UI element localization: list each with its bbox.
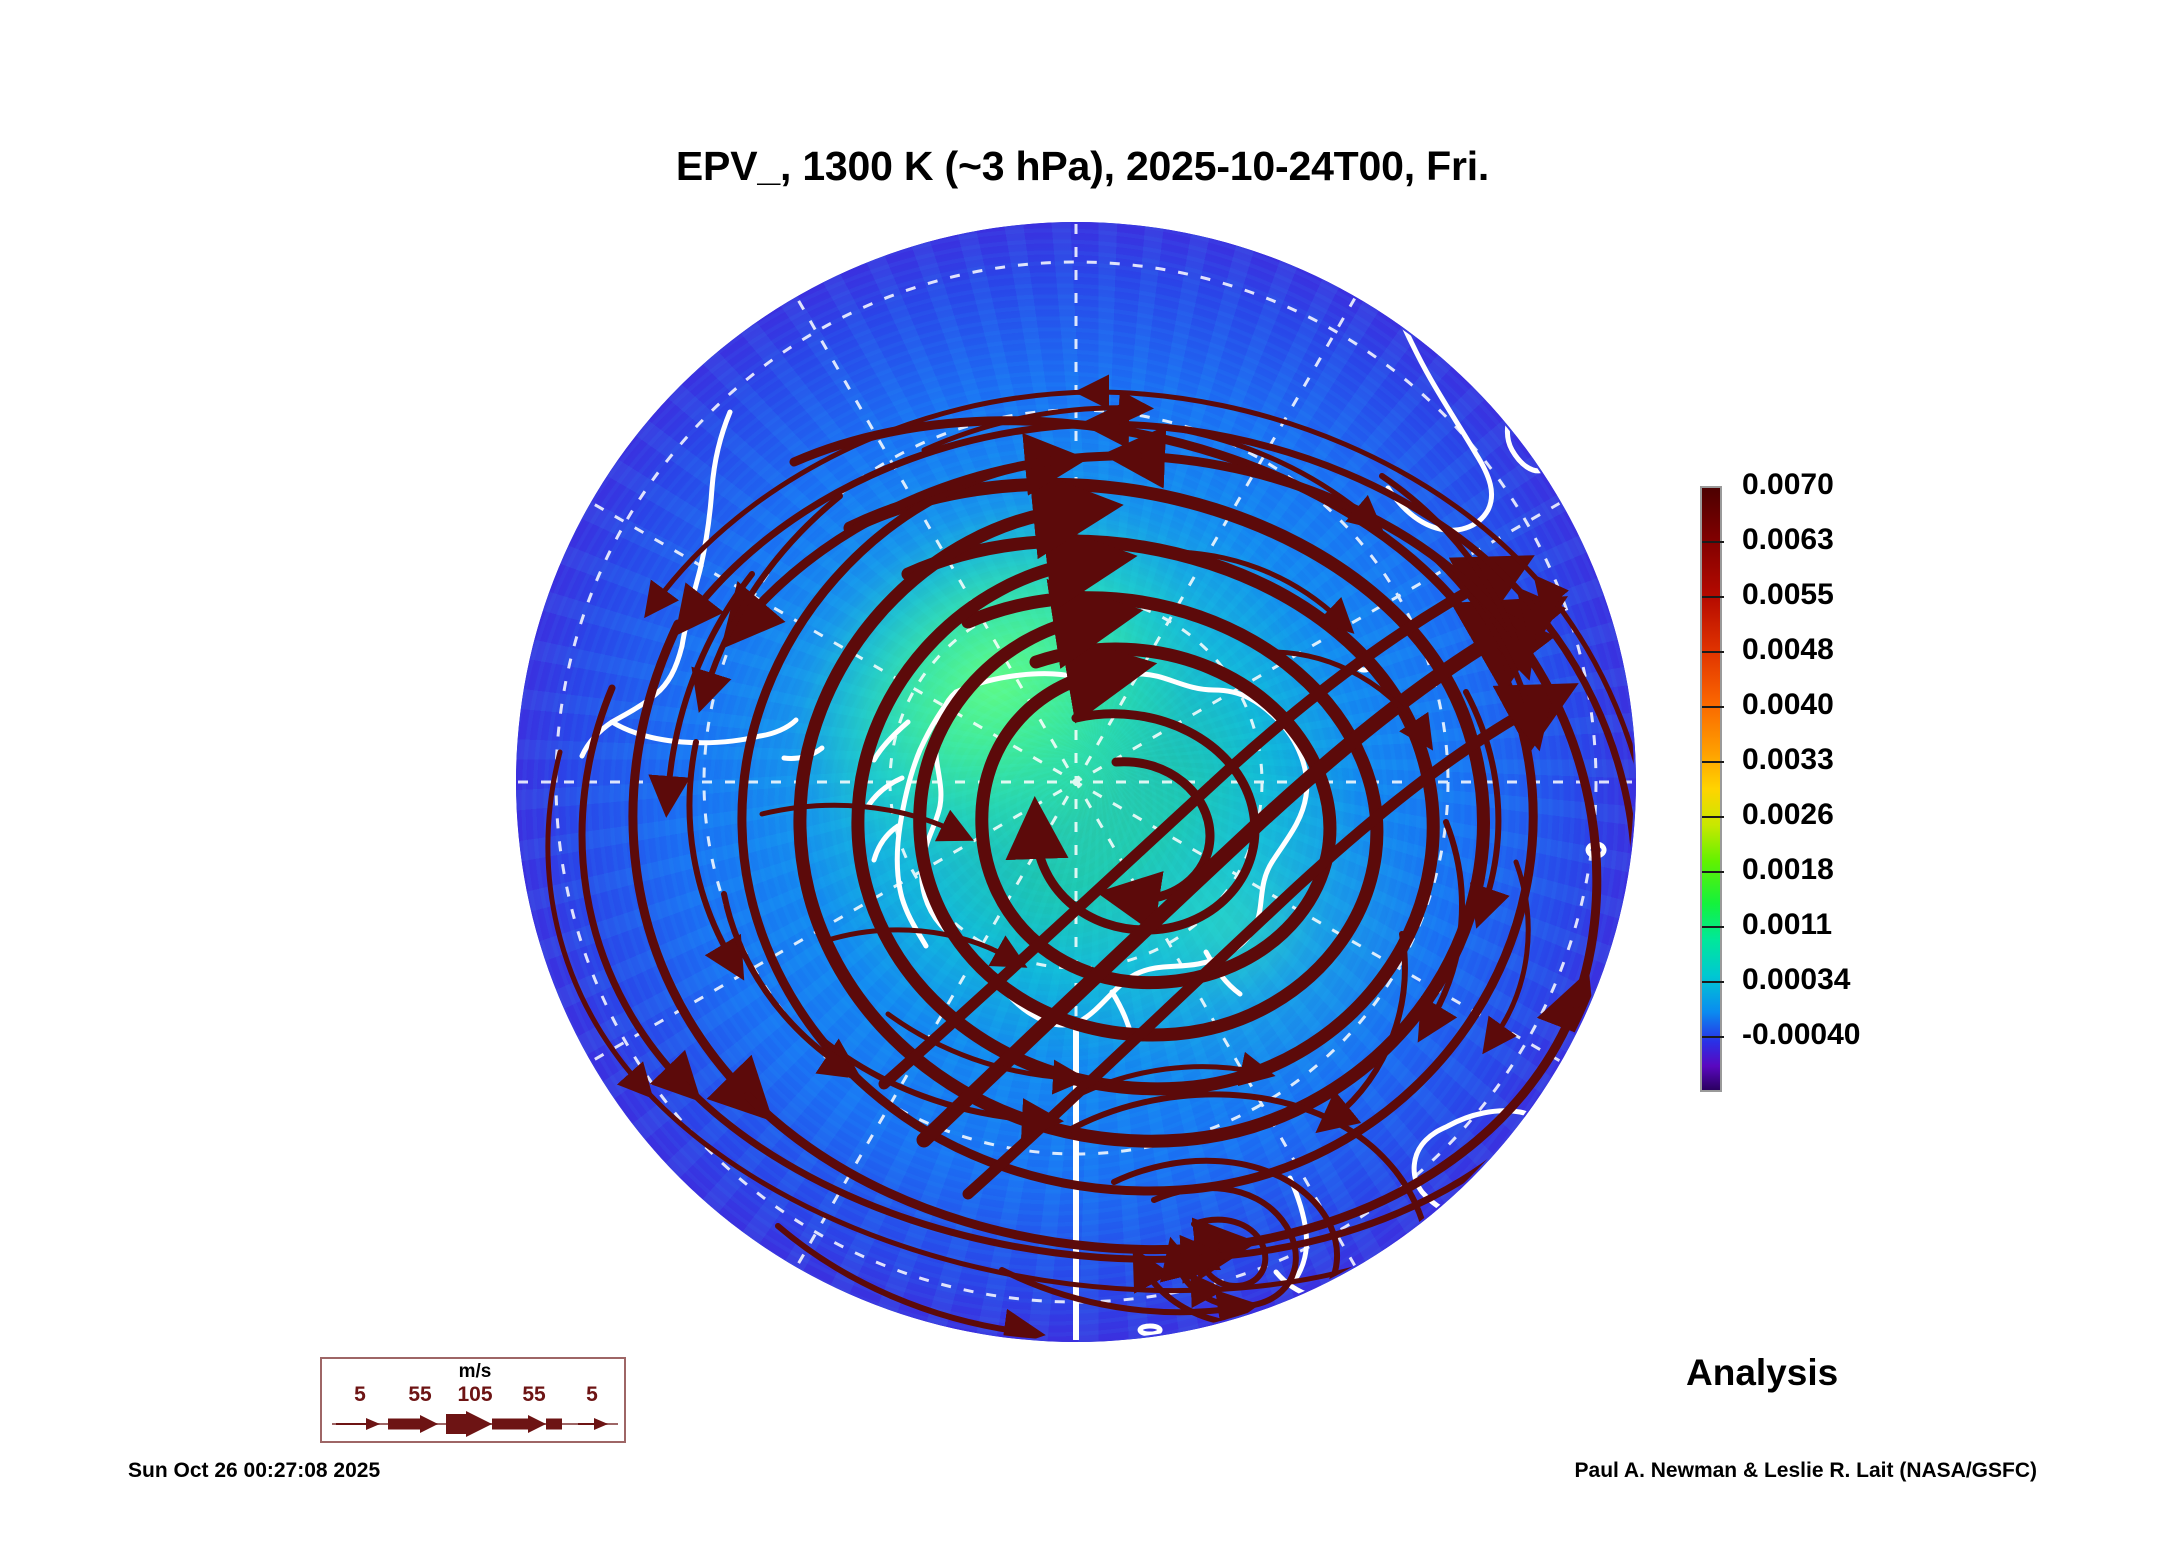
colorbar-label-2: 0.0055: [1742, 580, 1834, 610]
generation-timestamp: Sun Oct 26 00:27:08 2025: [128, 1459, 380, 1483]
wind-legend-value-2: 105: [447, 1383, 503, 1407]
colorbar-tick: [1702, 1036, 1724, 1038]
colorbar-tick: [1702, 926, 1724, 928]
colorbar-tick: [1702, 871, 1724, 873]
wind-legend-value-1: 55: [392, 1383, 448, 1407]
colorbar-label-4: 0.0040: [1742, 690, 1834, 720]
colorbar-tick: [1702, 706, 1724, 708]
page-title: EPV_, 1300 K (~3 hPa), 2025-10-24T00, Fr…: [0, 143, 2165, 190]
colorbar-tick: [1702, 541, 1724, 543]
colorbar-label-9: 0.00034: [1742, 965, 1850, 995]
colorbar-tick: [1702, 651, 1724, 653]
colorbar-label-5: 0.0033: [1742, 745, 1834, 775]
wind-streamlines: [516, 222, 1636, 1342]
wind-legend-unit-label: m/s: [322, 1361, 628, 1383]
colorbar-label-1: 0.0063: [1742, 525, 1834, 555]
colorbar-label-3: 0.0048: [1742, 635, 1834, 665]
author-credit: Paul A. Newman & Leslie R. Lait (NASA/GS…: [1575, 1459, 2037, 1483]
analysis-label: Analysis: [1686, 1352, 1838, 1394]
colorbar-label-0: 0.0070: [1742, 470, 1834, 500]
colorbar-tick: [1702, 816, 1724, 818]
wind-speed-legend: m/s 5 55 105 55 5: [320, 1357, 626, 1443]
wind-legend-value-3: 55: [506, 1383, 562, 1407]
colorbar-gradient: [1700, 486, 1722, 1092]
colorbar-tick: [1702, 981, 1724, 983]
colorbar-label-8: 0.0011: [1742, 910, 1832, 940]
wind-legend-arrow-scale: [322, 1407, 628, 1441]
colorbar-label-7: 0.0018: [1742, 855, 1834, 885]
polar-map[interactable]: [516, 222, 1636, 1342]
colorbar-tick: [1702, 761, 1724, 763]
colorbar-label-6: 0.0026: [1742, 800, 1834, 830]
wind-legend-value-0: 5: [332, 1383, 388, 1407]
colorbar-label-10: -0.00040: [1742, 1020, 1860, 1050]
wind-legend-value-4: 5: [564, 1383, 620, 1407]
colorbar-tick: [1702, 596, 1724, 598]
